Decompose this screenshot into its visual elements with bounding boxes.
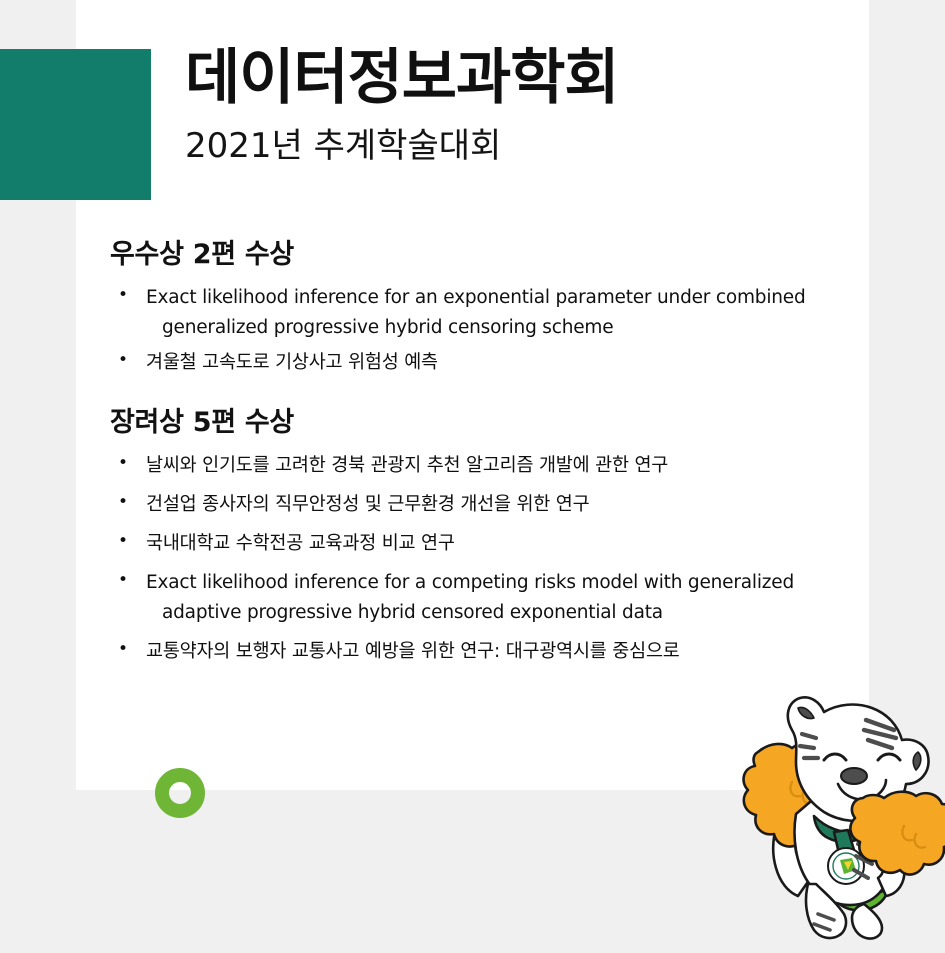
list-item-line1: 건설업 종사자의 직무안정성 및 근무환경 개선을 위한 연구 — [146, 494, 589, 515]
section-heading: 우수상 2편 수상 — [110, 232, 870, 271]
award-sections: 우수상 2편 수상 Exact likelihood inference for… — [110, 232, 870, 676]
section-excellence-award: 우수상 2편 수상 Exact likelihood inference for… — [110, 232, 870, 378]
white-tiger-cheerleader-mascot-icon — [688, 686, 945, 948]
list-item: 날씨와 인기도를 고려한 경북 관광지 추천 알고리즘 개발에 관한 연구 — [110, 451, 870, 481]
bullet-list: 날씨와 인기도를 고려한 경북 관광지 추천 알고리즘 개발에 관한 연구 건설… — [110, 451, 870, 667]
list-item-line1: 국내대학교 수학전공 교육과정 비교 연구 — [146, 533, 455, 554]
list-item: Exact likelihood inference for a competi… — [110, 568, 870, 628]
section-heading: 장려상 5편 수상 — [110, 400, 870, 439]
list-item-line1: 교통약자의 보행자 교통사고 예방을 위한 연구: 대구광역시를 중심으로 — [146, 641, 680, 662]
list-item-line1: 겨울철 고속도로 기상사고 위험성 예측 — [146, 352, 438, 373]
page-subtitle: 2021년 추계학술대회 — [185, 118, 865, 167]
list-item: Exact likelihood inference for an expone… — [110, 283, 870, 343]
list-item-line2: generalized progressive hybrid censoring… — [146, 313, 870, 343]
list-item: 국내대학교 수학전공 교육과정 비교 연구 — [110, 529, 870, 559]
section-encouragement-award: 장려상 5편 수상 날씨와 인기도를 고려한 경북 관광지 추천 알고리즘 개발… — [110, 400, 870, 667]
list-item-line1: Exact likelihood inference for a competi… — [146, 572, 794, 593]
list-item: 겨울철 고속도로 기상사고 위험성 예측 — [110, 348, 870, 378]
list-item-line1: Exact likelihood inference for an expone… — [146, 287, 806, 308]
list-item: 교통약자의 보행자 교통사고 예방을 위한 연구: 대구광역시를 중심으로 — [110, 637, 870, 667]
slide-header: 데이터정보과학회 2021년 추계학술대회 — [185, 48, 865, 167]
green-ring-logo-icon — [155, 768, 205, 818]
page-title: 데이터정보과학회 — [185, 48, 865, 108]
list-item: 건설업 종사자의 직무안정성 및 근무환경 개선을 위한 연구 — [110, 490, 870, 520]
list-item-line2: adaptive progressive hybrid censored exp… — [146, 598, 870, 628]
bullet-list: Exact likelihood inference for an expone… — [110, 283, 870, 378]
slide-canvas: 데이터정보과학회 2021년 추계학술대회 우수상 2편 수상 Exact li… — [0, 0, 945, 945]
list-item-line1: 날씨와 인기도를 고려한 경북 관광지 추천 알고리즘 개발에 관한 연구 — [146, 455, 668, 476]
teal-accent-block — [0, 49, 151, 200]
